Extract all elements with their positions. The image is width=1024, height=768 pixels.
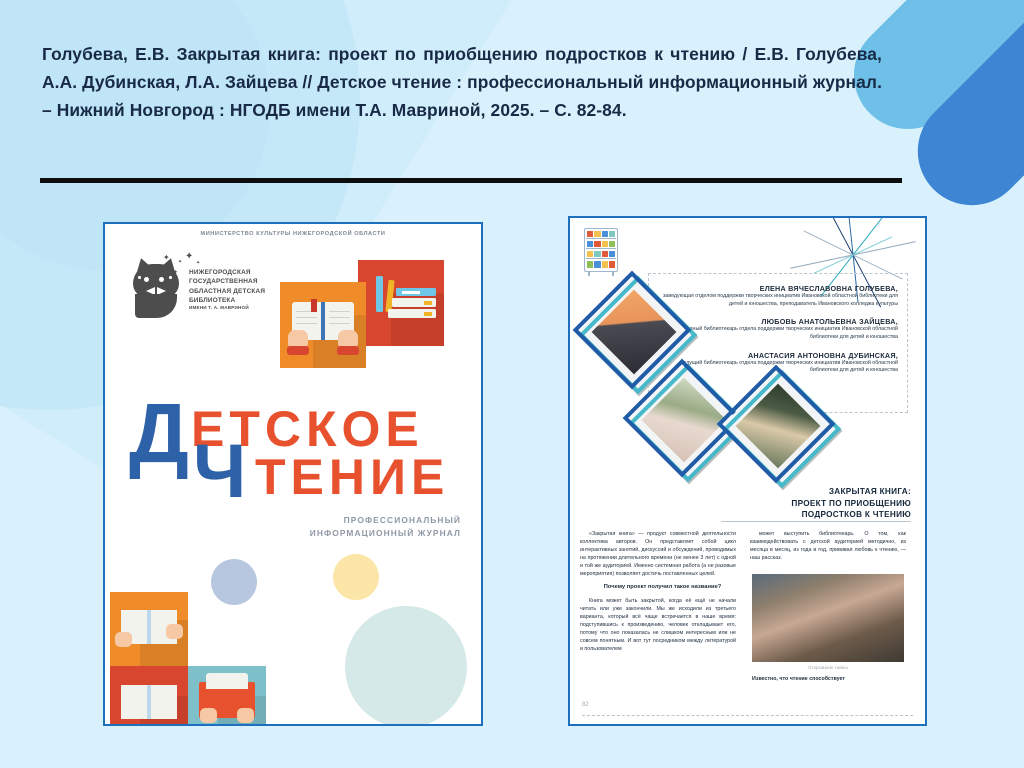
decorative-dot-blue xyxy=(211,559,257,605)
authors-block: ЕЛЕНА ВЯЧЕСЛАВОВНА ГОЛУБЕВА, заведующая … xyxy=(662,280,898,375)
article-paragraph-2: Книга может быть закрытой, когда её ещё … xyxy=(580,597,736,653)
citation-text: Голубева, Е.В. Закрытая книга: проект по… xyxy=(42,40,882,125)
article-title-line-2: ПРОЕКТ ПО ПРИОБЩЕНИЮ xyxy=(721,498,911,510)
open-book-hands-tile xyxy=(280,282,366,368)
article-photo xyxy=(752,574,904,662)
article-title-line-3: ПОДРОСТКОВ К ЧТЕНИЮ xyxy=(721,509,911,521)
cover-subtitle-line-1: ПРОФЕССИОНАЛЬНЫЙ xyxy=(310,514,461,527)
author-desc-1: заведующая отделом поддержки творческих … xyxy=(662,293,898,308)
star-icon: ✦ xyxy=(173,270,178,276)
article-column-right: может выступить библиотекарь. О том, как… xyxy=(750,530,906,567)
open-book-tile xyxy=(110,666,188,726)
slide-canvas: Голубева, Е.В. Закрытая книга: проект по… xyxy=(0,0,1024,768)
citation-block: Голубева, Е.В. Закрытая книга: проект по… xyxy=(42,40,882,125)
logo-line-1: НИЖЕГОРОДСКАЯ xyxy=(189,268,319,277)
star-icon: ✦ xyxy=(163,254,170,262)
author-portrait-1 xyxy=(592,290,676,374)
article-column-left: «Закрытая книга» — продукт совместной де… xyxy=(580,530,736,658)
decorative-dot-teal xyxy=(345,606,467,726)
cover-ministry-line: МИНИСТЕРСТВО КУЛЬТУРЫ НИЖЕГОРОДСКОЙ ОБЛА… xyxy=(105,231,481,237)
photo-caption: Открываем тайны xyxy=(752,665,904,670)
star-icon: ✦ xyxy=(196,261,200,266)
footer-dashed-line xyxy=(582,714,913,716)
star-icon: ✦ xyxy=(185,252,193,262)
reading-hands-tile xyxy=(110,592,188,666)
books-stack-tile xyxy=(358,260,444,346)
article-title-line-1: ЗАКРЫТАЯ КНИГА: xyxy=(721,486,911,498)
open-book-icon xyxy=(292,302,354,342)
article-paragraph-1: «Закрытая книга» — продукт совместной де… xyxy=(580,530,736,578)
article-page-image[interactable]: ЕЛЕНА ВЯЧЕСЛАВОВНА ГОЛУБЕВА, заведующая … xyxy=(568,216,927,726)
article-title: ЗАКРЫТАЯ КНИГА: ПРОЕКТ ПО ПРИОБЩЕНИЮ ПОД… xyxy=(721,486,911,521)
article-subheading: Почему проект получил такое название? xyxy=(580,583,736,592)
star-icon: ✦ xyxy=(178,260,182,265)
cover-title-letter-d: Д xyxy=(129,400,187,467)
author-portrait-3 xyxy=(736,384,820,468)
child-reading-tile xyxy=(188,666,266,726)
cover-subtitle-line-2: ИНФОРМАЦИОННЫЙ ЖУРНАЛ xyxy=(310,527,461,540)
decorative-dot-yellow xyxy=(333,554,379,600)
cover-title-letter-ch: Ч xyxy=(193,440,246,505)
open-book-icon xyxy=(121,610,177,646)
horizontal-rule xyxy=(40,178,902,183)
author-name-1: ЕЛЕНА ВЯЧЕСЛАВОВНА ГОЛУБЕВА, xyxy=(662,284,898,293)
author-name-3: АНАСТАСИЯ АНТОНОВНА ДУБИНСКАЯ, xyxy=(662,351,898,360)
open-book-icon xyxy=(121,685,177,721)
author-name-2: ЛЮБОВЬ АНАТОЛЬЕВНА ЗАЙЦЕВА, xyxy=(662,317,898,326)
cover-title-tenie: ТЕНИЕ xyxy=(255,452,449,502)
page-number: 82 xyxy=(582,702,589,708)
article-paragraph-4: Известно, что чтение способствует xyxy=(752,676,904,682)
magazine-cover-image[interactable]: МИНИСТЕРСТВО КУЛЬТУРЫ НИЖЕГОРОДСКОЙ ОБЛА… xyxy=(103,222,483,726)
author-desc-2: главный библиотекарь отдела поддержки тв… xyxy=(662,326,898,341)
article-title-rule xyxy=(721,521,911,522)
cover-subtitle: ПРОФЕССИОНАЛЬНЫЙ ИНФОРМАЦИОННЫЙ ЖУРНАЛ xyxy=(310,514,461,539)
book-stack-icon xyxy=(374,278,438,330)
bookshelf-icon xyxy=(584,228,618,272)
author-portrait-2 xyxy=(642,378,726,462)
article-paragraph-3: может выступить библиотекарь. О том, как… xyxy=(750,530,906,562)
